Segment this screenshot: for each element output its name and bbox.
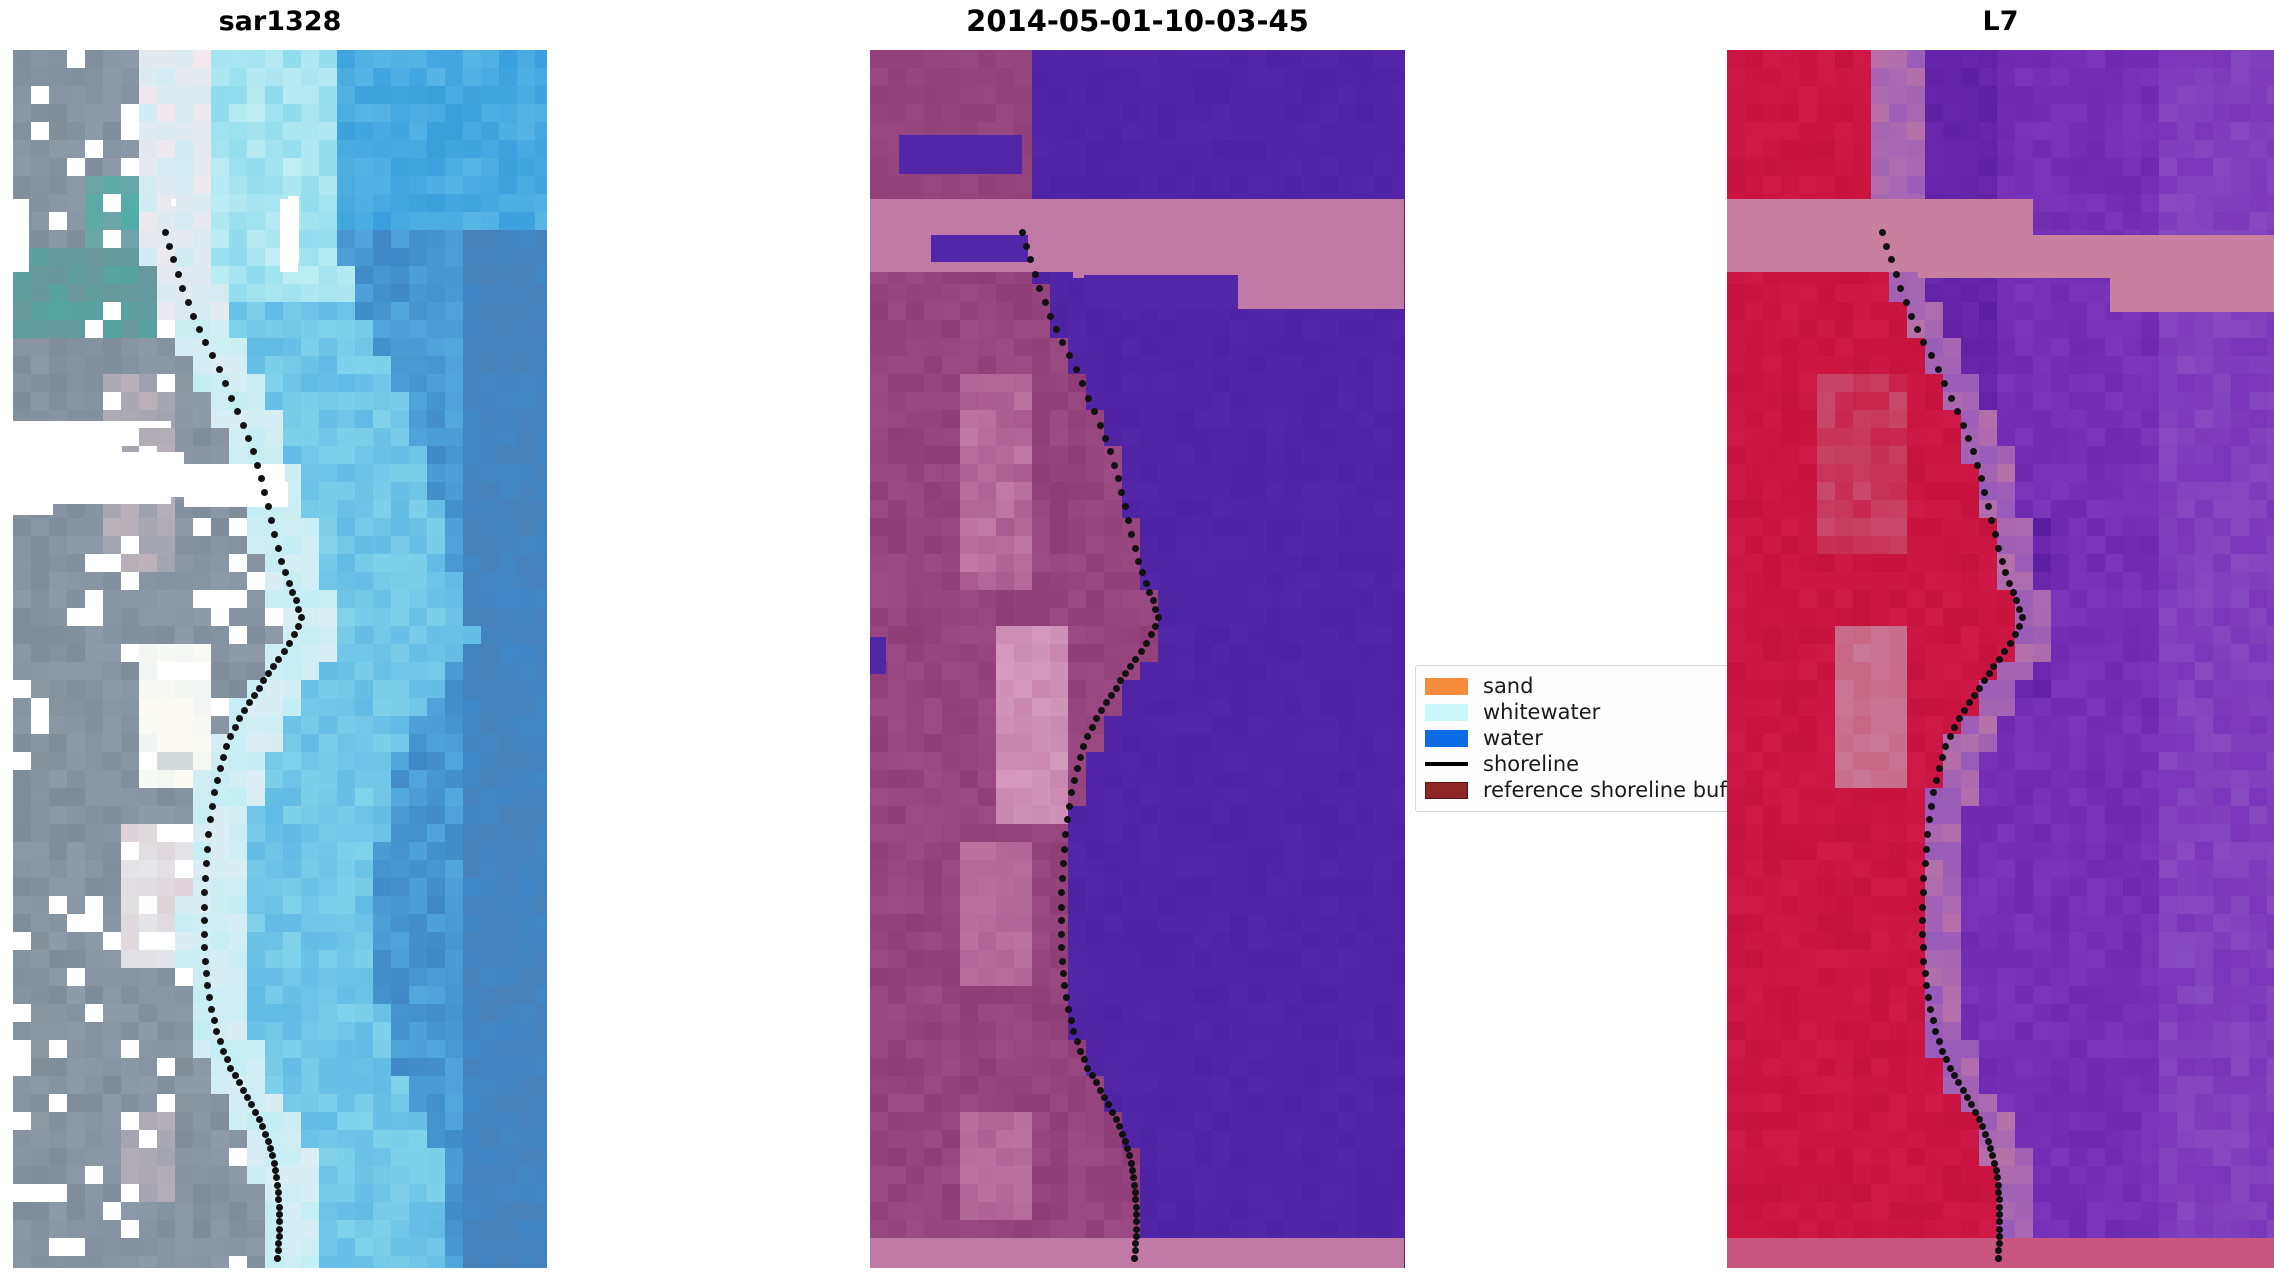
shoreline-point — [276, 1204, 283, 1211]
shoreline-point — [240, 1087, 247, 1094]
shoreline-point — [1111, 462, 1118, 469]
shoreline-point — [1023, 243, 1030, 250]
shoreline-point — [1089, 1072, 1096, 1079]
shoreline-point — [1132, 1189, 1139, 1196]
shoreline-point — [1124, 1145, 1131, 1152]
shoreline-point — [217, 765, 224, 772]
shoreline-point — [1981, 677, 1988, 684]
shoreline-point — [166, 243, 173, 250]
shoreline-point — [1928, 803, 1935, 810]
shoreline-point — [1115, 475, 1122, 482]
shoreline-point — [1974, 462, 1981, 469]
legend-label-water: water — [1483, 726, 1543, 750]
shoreline-point — [293, 597, 300, 604]
shoreline-point — [1053, 326, 1060, 333]
shoreline-point — [1074, 765, 1081, 772]
panel-title-l7: L7 — [1727, 6, 2274, 37]
classified-band — [899, 135, 1022, 174]
panel-title-sar1328: sar1328 — [13, 6, 547, 37]
shoreline-point — [2016, 623, 2023, 630]
shoreline-point — [1947, 1065, 1954, 1072]
l7-band — [1727, 199, 1891, 238]
shoreline-point — [1951, 724, 1958, 731]
shoreline-point — [201, 904, 208, 911]
shoreline-point — [1893, 271, 1900, 278]
shoreline-point — [1060, 860, 1067, 867]
shoreline-point — [1133, 1204, 1140, 1211]
shoreline-point — [1995, 1182, 2002, 1189]
nodata-region — [122, 452, 183, 497]
shoreline-point — [251, 692, 258, 699]
shoreline-point — [286, 640, 293, 647]
shoreline-point — [220, 754, 227, 761]
shoreline-point — [2010, 589, 2017, 596]
shoreline-point — [1066, 352, 1073, 359]
shoreline-point — [1888, 256, 1895, 263]
shoreline-point — [1954, 408, 1961, 415]
shoreline-point — [1996, 1226, 2003, 1233]
shoreline-point — [1133, 1233, 1140, 1240]
shoreline-point — [2007, 640, 2014, 647]
shoreline-point — [256, 685, 263, 692]
shoreline-point — [1971, 692, 1978, 699]
image-panel-classified[interactable] — [870, 50, 1405, 1268]
shoreline-point — [1939, 1048, 1946, 1055]
shoreline-point — [1061, 846, 1068, 853]
shoreline-point — [1150, 597, 1157, 604]
shoreline-point — [1133, 1211, 1140, 1218]
shoreline-point — [271, 1160, 278, 1167]
shoreline-point — [185, 299, 192, 306]
shoreline-point — [1930, 1017, 1937, 1024]
classified-band — [1084, 275, 1239, 309]
legend-label-shoreline: shoreline — [1483, 752, 1579, 776]
shoreline-point — [262, 1131, 269, 1138]
shoreline-point — [1132, 545, 1139, 552]
sand-swatch-icon — [1425, 678, 1468, 695]
shoreline-point — [1032, 271, 1039, 278]
shoreline-point — [1073, 366, 1080, 373]
shoreline-point — [1982, 1131, 1989, 1138]
shoreline-point — [203, 970, 210, 977]
shoreline-point — [298, 614, 305, 621]
shoreline-point — [1119, 1131, 1126, 1138]
shoreline-point — [241, 707, 248, 714]
shoreline-point — [258, 475, 265, 482]
shoreline-point — [1074, 1038, 1081, 1045]
legend-item-reference-shoreline-buffer[interactable]: reference shoreline buffer — [1425, 777, 1720, 803]
shoreline-line-icon — [1425, 762, 1468, 766]
shoreline-point — [1059, 339, 1066, 346]
classified-band — [870, 637, 886, 674]
shoreline-point — [1138, 648, 1145, 655]
image-panel-l7[interactable] — [1727, 50, 2274, 1268]
shoreline-point — [196, 326, 203, 333]
shoreline-point — [1993, 1167, 2000, 1174]
shoreline-point — [265, 1138, 272, 1145]
panel-title-timestamp: 2014-05-01-10-03-45 — [870, 4, 1405, 38]
shoreline-point — [217, 1038, 224, 1045]
shoreline-point — [1122, 503, 1129, 510]
shoreline-point — [275, 656, 282, 663]
shoreline-point — [1077, 1048, 1084, 1055]
nodata-region — [13, 503, 53, 515]
nodata-region — [288, 196, 299, 263]
shoreline-point — [1019, 229, 1026, 236]
nodata-region — [171, 199, 176, 206]
shoreline-point — [1995, 1255, 2002, 1262]
shoreline-point — [1133, 1226, 1140, 1233]
shoreline-point — [1965, 435, 1972, 442]
shoreline-point — [286, 580, 293, 587]
shoreline-point — [1143, 580, 1150, 587]
shoreline-point — [224, 1056, 231, 1063]
shoreline-point — [216, 366, 223, 373]
shoreline-point — [1081, 1056, 1088, 1063]
shoreline-point — [1146, 589, 1153, 596]
classified-band — [1233, 275, 1404, 309]
shoreline-point — [232, 724, 239, 731]
shoreline-point — [1068, 1017, 1075, 1024]
shoreline-point — [270, 663, 277, 670]
legend-item-shoreline[interactable]: shoreline — [1425, 751, 1720, 777]
shoreline-point — [209, 352, 216, 359]
nodata-region — [13, 421, 122, 497]
shoreline-point — [289, 589, 296, 596]
shoreline-point — [282, 569, 289, 576]
shoreline-point — [170, 256, 177, 263]
shoreline-point — [1996, 1204, 2003, 1211]
shoreline-point — [1127, 663, 1134, 670]
shoreline-point — [276, 1233, 283, 1240]
shoreline-point — [1122, 1138, 1129, 1145]
shoreline-point — [1132, 656, 1139, 663]
shoreline-point — [175, 271, 182, 278]
shoreline-point — [1059, 875, 1066, 882]
legend-label-sand: sand — [1483, 674, 1533, 698]
shoreline-point — [2019, 614, 2026, 621]
shoreline-point — [1077, 754, 1084, 761]
shoreline-point — [245, 435, 252, 442]
shoreline-point — [1922, 970, 1929, 977]
shoreline-point — [275, 1189, 282, 1196]
legend-item-whitewater[interactable]: whitewater — [1425, 699, 1720, 725]
shoreline-point — [162, 229, 169, 236]
shoreline-point — [1113, 1116, 1120, 1123]
shoreline-point — [1058, 931, 1065, 938]
shoreline-point — [256, 1116, 263, 1123]
shoreline-point — [1152, 623, 1159, 630]
shoreline-point — [1961, 707, 1968, 714]
shoreline-point — [1960, 1087, 1967, 1094]
shoreline-point — [1143, 640, 1150, 647]
shoreline-point — [1097, 1087, 1104, 1094]
shoreline-point — [1996, 656, 2003, 663]
shoreline-point — [204, 846, 211, 853]
shoreline-point — [1108, 692, 1115, 699]
shoreline-point — [1985, 1138, 1992, 1145]
legend-label-whitewater: whitewater — [1483, 700, 1600, 724]
shoreline-point — [1995, 545, 2002, 552]
shoreline-point — [1960, 422, 1967, 429]
whitewater-swatch-icon — [1425, 704, 1468, 721]
shoreline-point — [1139, 569, 1146, 576]
shoreline-point — [1920, 958, 1927, 965]
classified-band — [1073, 235, 1404, 278]
shoreline-point — [1935, 366, 1942, 373]
shoreline-point — [1059, 958, 1066, 965]
shoreline-point — [1936, 1038, 1943, 1045]
water-swatch-icon — [1425, 730, 1468, 747]
shoreline-point — [281, 648, 288, 655]
shoreline-point — [1152, 606, 1159, 613]
shoreline-point — [202, 875, 209, 882]
shoreline-point — [201, 931, 208, 938]
legend-box[interactable]: sand whitewater water shoreline referenc… — [1415, 665, 1731, 812]
shoreline-point — [1097, 422, 1104, 429]
nodata-region — [13, 233, 28, 272]
shoreline-point — [1992, 531, 1999, 538]
shoreline-point — [240, 422, 247, 429]
shoreline-point — [1113, 685, 1120, 692]
shoreline-point — [1920, 944, 1927, 951]
shoreline-point — [1976, 685, 1983, 692]
shoreline-point — [1996, 1233, 2003, 1240]
legend-label-reference-shoreline-buffer: reference shoreline buffer — [1483, 778, 1731, 802]
shoreline-point — [1972, 1109, 1979, 1116]
l7-band — [2110, 275, 2274, 312]
shoreline-point — [276, 1211, 283, 1218]
shoreline-point — [1128, 1160, 1135, 1167]
shoreline-point — [211, 1017, 218, 1024]
shoreline-point — [1060, 970, 1067, 977]
shoreline-point — [1042, 299, 1049, 306]
shoreline-point — [1058, 904, 1065, 911]
legend-item-sand[interactable]: sand — [1425, 673, 1720, 699]
shoreline-point — [202, 339, 209, 346]
shoreline-point — [1922, 860, 1929, 867]
shoreline-point — [1999, 558, 2006, 565]
shoreline-point — [1976, 1116, 1983, 1123]
shoreline-point — [202, 958, 209, 965]
shoreline-point — [1986, 670, 1993, 677]
shoreline-point — [1923, 982, 1930, 989]
shoreline-point — [275, 545, 282, 552]
shoreline-point — [1948, 395, 1955, 402]
l7-band — [1918, 235, 2274, 278]
shoreline-point — [1928, 352, 1935, 359]
shoreline-point — [265, 503, 272, 510]
shoreline-point — [220, 1048, 227, 1055]
shoreline-point — [1027, 256, 1034, 263]
shoreline-point — [295, 606, 302, 613]
shoreline-point — [1923, 846, 1930, 853]
shoreline-point — [232, 1072, 239, 1079]
shoreline-point — [1991, 1160, 1998, 1167]
shoreline-point — [1936, 765, 1943, 772]
shoreline-point — [1155, 614, 1162, 621]
image-panel-sar1328[interactable] — [13, 50, 547, 1268]
classified-band — [931, 235, 1027, 262]
shoreline-point — [267, 1145, 274, 1152]
reference-buffer-swatch-icon — [1425, 782, 1468, 799]
nodata-region — [184, 482, 288, 506]
shoreline-point — [2016, 606, 2023, 613]
shoreline-point — [203, 860, 210, 867]
shoreline-point — [1102, 435, 1109, 442]
shoreline-point — [276, 1226, 283, 1233]
shoreline-point — [254, 462, 261, 469]
figure-canvas: sar1328 2014-05-01-10-03-45 L7 sand whit… — [0, 0, 2274, 1283]
shoreline-point — [1089, 724, 1096, 731]
shoreline-point — [1996, 1240, 2003, 1247]
legend-item-water[interactable]: water — [1425, 725, 1720, 751]
shoreline-point — [1098, 707, 1105, 714]
shoreline-point — [295, 623, 302, 630]
